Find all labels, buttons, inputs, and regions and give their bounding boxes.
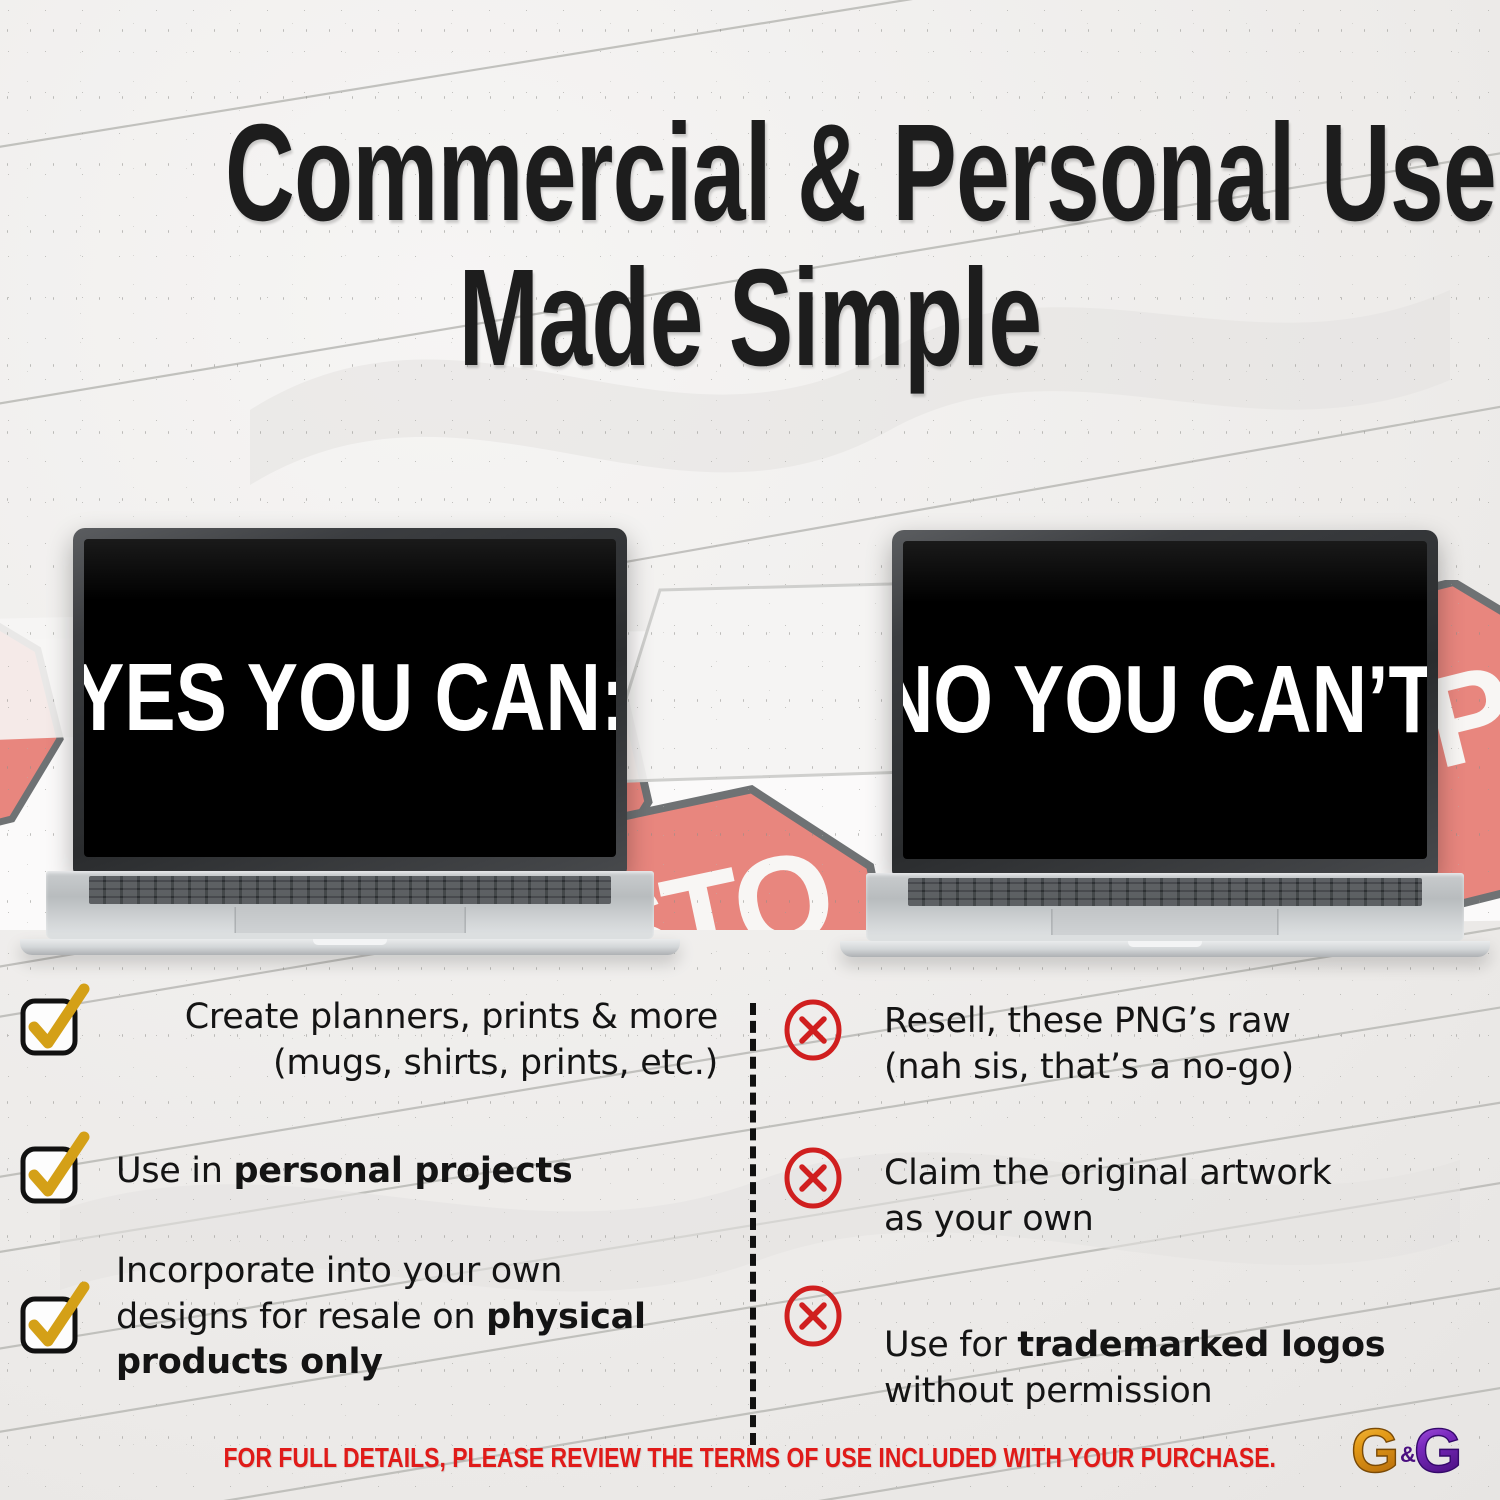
yes-item-2-bold: personal projects [233,1151,572,1191]
laptop-no-lid: NO YOU CAN’T: [892,530,1438,875]
circle-x-icon [782,1285,844,1347]
laptop-yes-deck [46,871,653,939]
yes-item-1-line-2: (mugs, shirts, prints, etc.) [273,1043,718,1083]
logo-left-letter: G [1351,1417,1399,1486]
check-icon [18,1293,80,1355]
no-item-1-line-1: Resell, these PNG’s raw [884,1001,1291,1041]
permissions-columns: Create planners, prints & more (mugs, sh… [0,995,1500,1445]
no-item-3-line-2: without permission [884,1371,1212,1411]
brand-logo: G & G [1348,1410,1478,1488]
page-title-line-2: Made Simple [225,253,1275,384]
list-item: Use for trademarked logos without permis… [782,1285,1482,1414]
yes-item-3-text: Incorporate into your own designs for re… [116,1249,646,1386]
trackpad-icon [1051,909,1278,935]
no-item-2-line-1: Claim the original artwork [884,1153,1332,1193]
laptop-no-deck [866,873,1464,941]
circle-x-icon [782,1147,844,1209]
no-item-1-text: Resell, these PNG’s raw (nah sis, that’s… [884,999,1294,1090]
laptop-no-screen: NO YOU CAN’T: [903,541,1427,859]
laptop-yes: YES YOU CAN: [20,528,680,955]
laptop-yes-base [20,871,680,955]
list-item: Use in personal projects [18,1143,718,1205]
footer: FOR FULL DETAILS, PLEASE REVIEW THE TERM… [0,1442,1500,1474]
no-item-1-line-2: (nah sis, that’s a no-go) [884,1047,1294,1087]
laptop-no-front-edge [840,941,1490,957]
yes-item-1-line-1: Create planners, prints & more [185,997,718,1037]
no-item-3-bold: trademarked logos [1017,1325,1385,1365]
laptop-notch-icon [313,939,387,945]
laptop-yes-screen: YES YOU CAN: [84,539,616,857]
list-item: Claim the original artwork as your own [782,1147,1482,1242]
laptop-no: NO YOU CAN’T: [840,530,1490,957]
trackpad-icon [235,907,466,933]
circle-x-icon [782,999,844,1061]
logo-right-letter: G [1414,1417,1462,1486]
yes-item-3-bold-1: physical [486,1297,646,1337]
footer-terms-note: FOR FULL DETAILS, PLEASE REVIEW THE TERM… [224,1442,1276,1474]
laptop-yes-lid: YES YOU CAN: [73,528,627,873]
laptop-notch-icon [1128,941,1202,947]
yes-item-3-bold-2: products only [116,1342,383,1382]
column-divider [750,1003,756,1445]
no-item-3-text: Use for trademarked logos without permis… [884,1285,1385,1414]
keyboard-icon [908,878,1422,906]
no-item-3-prefix: Use for [884,1325,1017,1365]
page-title: Commercial & Personal Use Made Simple [0,108,1500,384]
laptop-yes-front-edge [20,939,680,955]
no-item-2-line-2: as your own [884,1199,1094,1239]
no-item-2-text: Claim the original artwork as your own [884,1147,1332,1242]
laptop-no-screen-text: NO YOU CAN’T: [903,652,1427,748]
list-item: Resell, these PNG’s raw (nah sis, that’s… [782,999,1482,1090]
laptop-no-base [840,873,1490,957]
yes-item-2-prefix: Use in [116,1151,233,1191]
page-title-line-1: Commercial & Personal Use [225,108,1275,239]
list-item: Create planners, prints & more (mugs, sh… [18,995,718,1086]
yes-item-3-line-1: Incorporate into your own [116,1251,562,1291]
keyboard-icon [89,876,611,904]
laptop-yes-screen-text: YES YOU CAN: [84,650,616,746]
check-icon [18,1143,80,1205]
yes-item-2-text: Use in personal projects [116,1143,572,1195]
laptop-mockups: YES YOU CAN: NO YOU CAN’T: [0,520,1500,950]
list-item: Incorporate into your own designs for re… [18,1249,718,1386]
yes-item-3-prefix: designs for resale on [116,1297,486,1337]
check-icon [18,995,80,1057]
yes-item-1-text: Create planners, prints & more (mugs, sh… [116,995,718,1086]
